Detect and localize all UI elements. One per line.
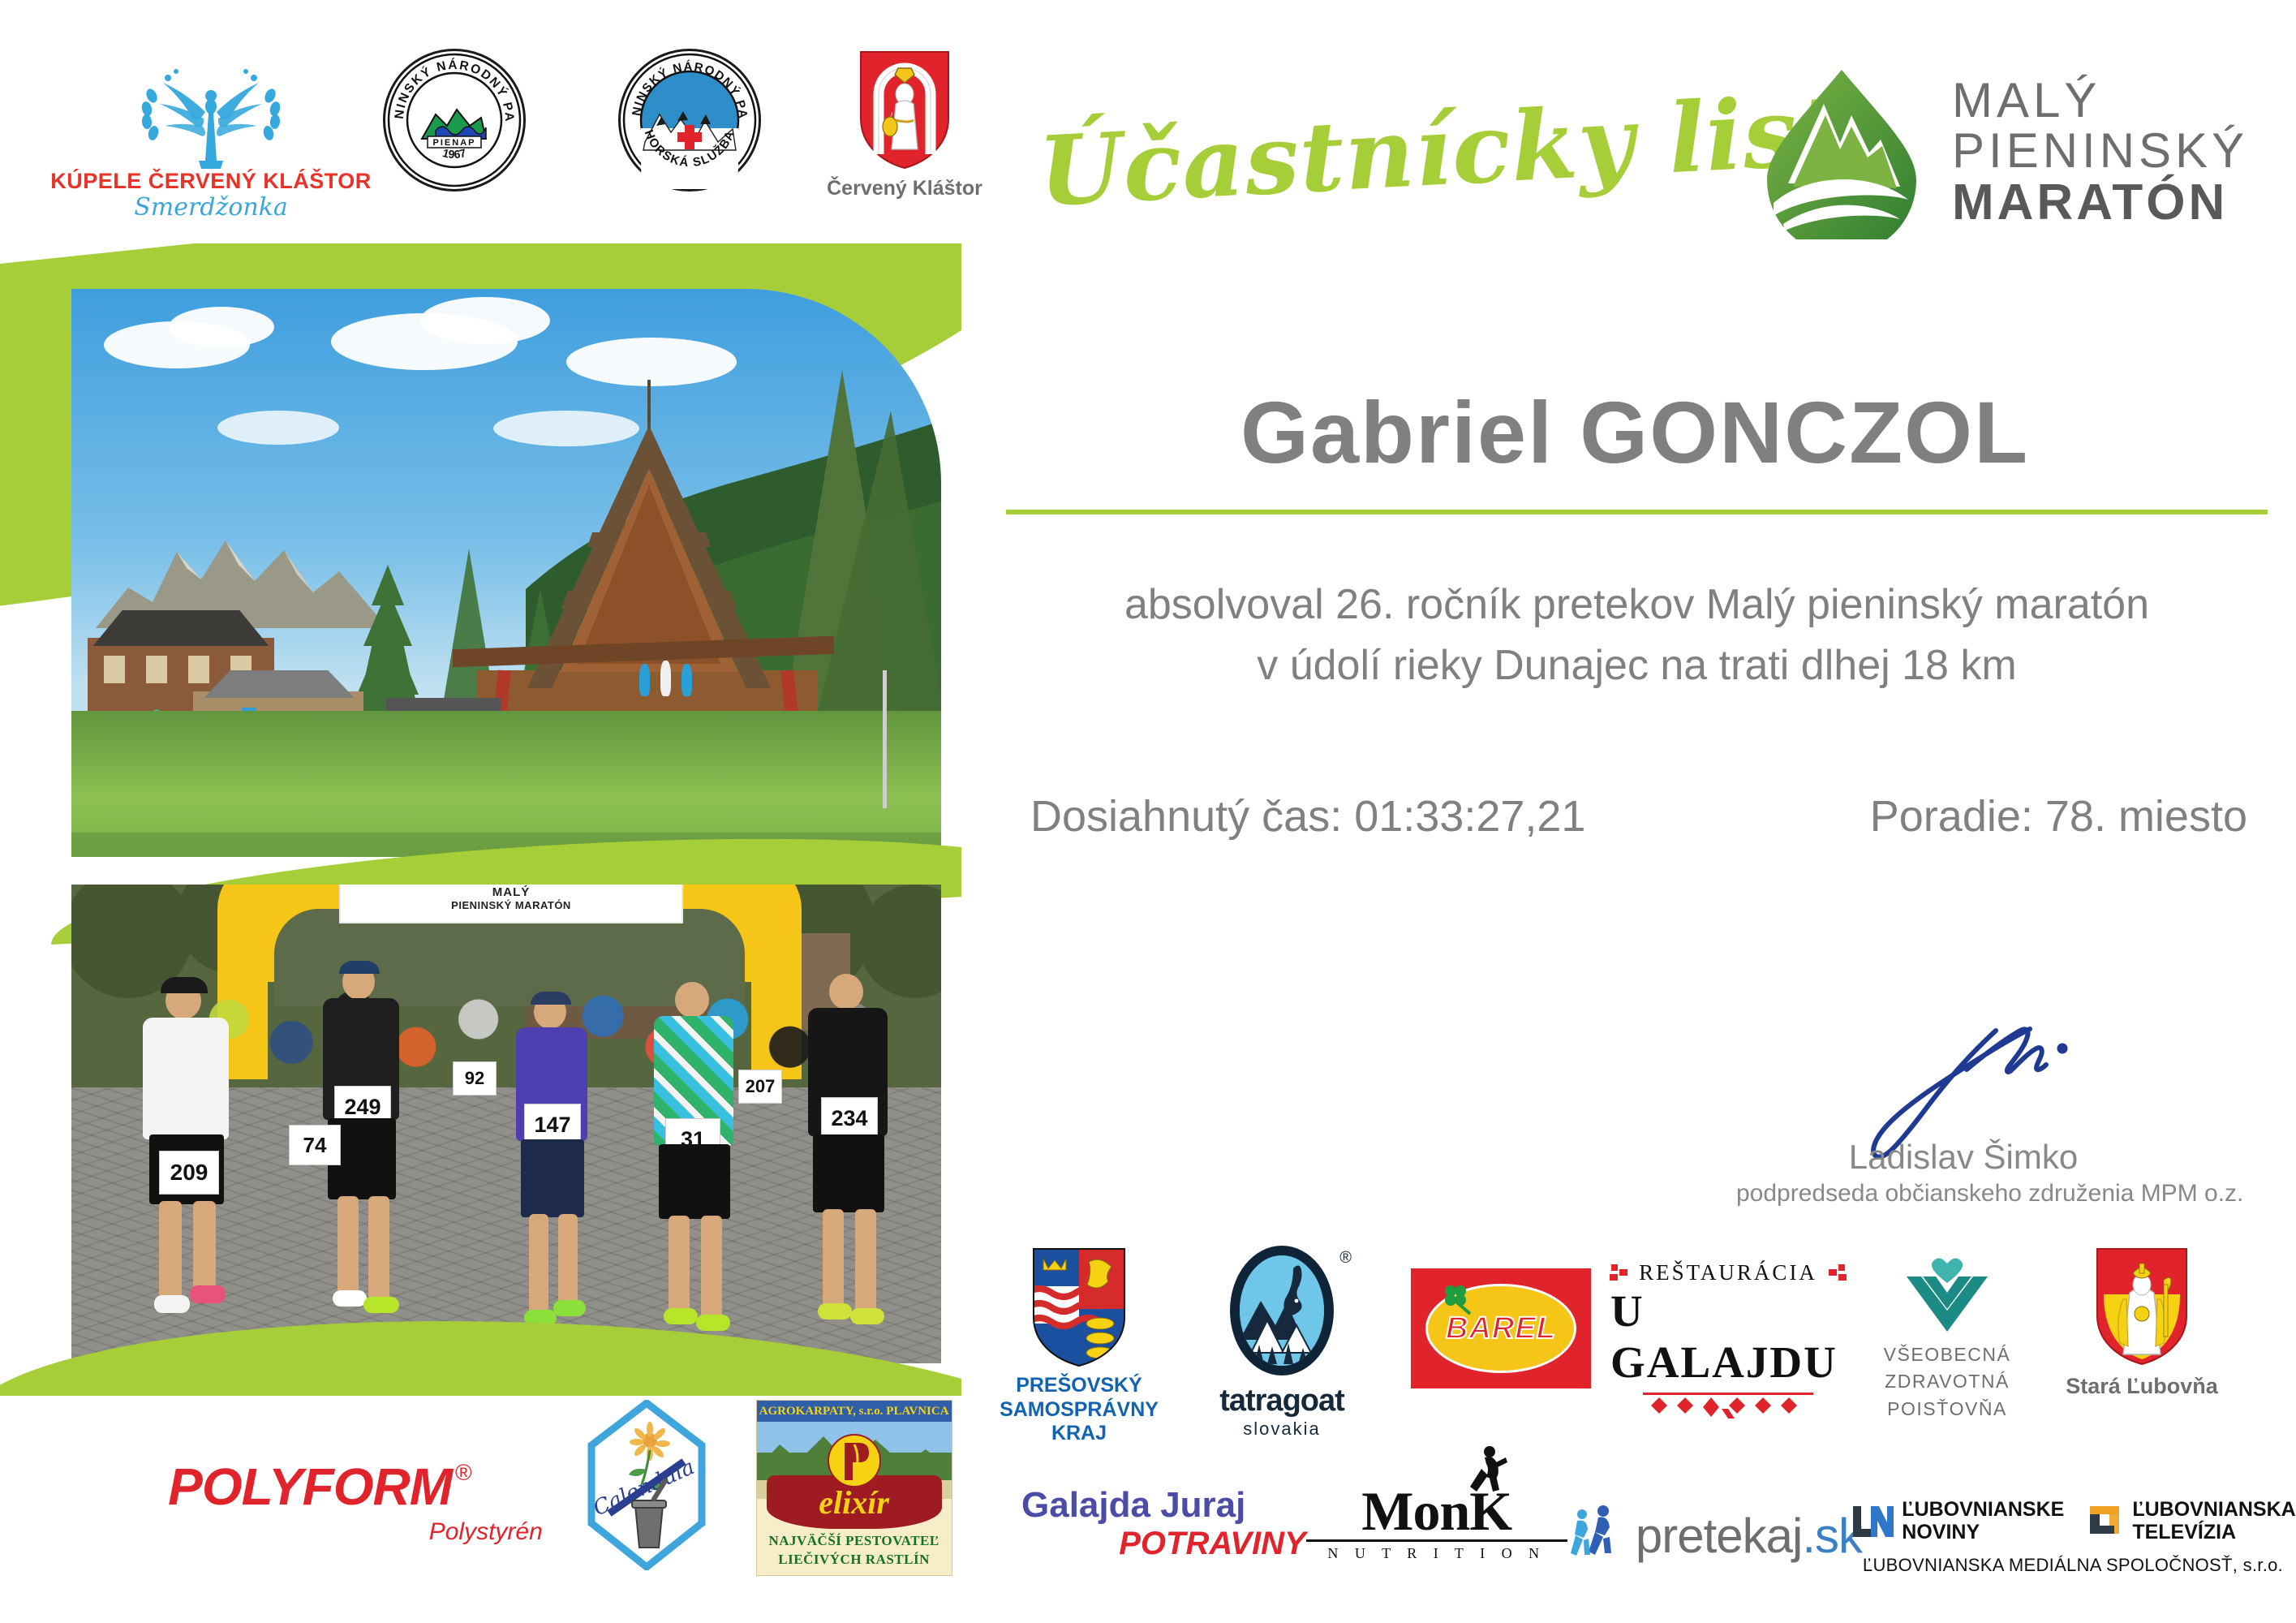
psk-coat-of-arms-icon [1030, 1246, 1128, 1367]
folk-ornament-right-icon [1825, 1261, 1848, 1285]
logo-kupele-cerveny-klastor: KÚPELE ČERVENÝ KLÁŠTOR Smerdžonka [89, 49, 333, 221]
signature-role: podpredseda občianskeho združenia MPM o.… [1736, 1180, 2191, 1208]
sponsor-presovsky-samospravny-kraj: PREŠOVSKÝ SAMOSPRÁVNY KRAJ [986, 1246, 1172, 1446]
pretekaj-wordmark: pretekaj.sk [1636, 1508, 1862, 1564]
runner-234: 234 [793, 974, 907, 1323]
sponsor-monk-nutrition: MonK N U T R I T I O N [1306, 1485, 1567, 1562]
photo-runners-start: MALÝ PIENINSKÝ MARATÓN 209 [71, 885, 941, 1363]
folk-ornament-left-icon [1608, 1261, 1631, 1285]
lt-mark-icon [2087, 1503, 2126, 1539]
finish-time: Dosiahnutý čas: 01:33:27,21 [1030, 791, 1585, 842]
event-logo-wordmark: MALÝ PIENINSKÝ MARATÓN [1952, 75, 2248, 229]
photo-amphitheatre [71, 289, 941, 857]
stara-lubovna-coat-of-arms-icon [2094, 1246, 2190, 1367]
tatragoat-wordmark: tatragoat [1219, 1384, 1344, 1419]
ln-mark-icon [1850, 1503, 1895, 1539]
sponsor-tatragoat: ® tatragoat slovakia [1172, 1246, 1391, 1440]
certificate-page: KÚPELE ČERVENÝ KLÁŠTOR Smerdžonka PIENIN… [0, 0, 2296, 1623]
vzp-label: VŠEOBECNÁ ZDRAVOTNÁ POISŤOVŇA [1884, 1341, 2011, 1423]
lubovnianska-televizia: ĽUBOVNIANSKA TELEVÍZIA [2087, 1498, 2295, 1543]
u-galajdu-line1: REŠTAURÁCIA [1639, 1260, 1817, 1285]
spa-logo-subtitle: Smerdžonka [134, 194, 288, 221]
sponsor-pretekaj-sk: pretekaj.sk [1567, 1485, 1862, 1568]
event-logo-line2: PIENINSKÝ [1952, 126, 2248, 176]
polyform-registered-mark: ® [455, 1460, 472, 1486]
svg-text:PIENAP: PIENAP [433, 138, 476, 148]
elixir-emblem-icon [827, 1430, 882, 1492]
sponsor-barel: BAREL [1391, 1246, 1610, 1388]
sponsor-polyform: POLYFORM ® Polystyrén [97, 1400, 543, 1546]
result-row: Dosiahnutý čas: 01:33:27,21 Poradie: 78.… [1006, 791, 2272, 842]
vzp-chevron-icon [1898, 1254, 1996, 1335]
polyform-wordmark: POLYFORM [168, 1457, 452, 1517]
barel-wordmark: BAREL [1446, 1311, 1556, 1346]
sponsor-agrokarpaty-elixir: AGROKARPATY, s.r.o. PLAVNICA elixír NAJV… [750, 1400, 957, 1576]
elixir-bottom-line2: LIEČIVÝCH RASTLÍN [757, 1552, 952, 1568]
sponsor-row-1: PREŠOVSKÝ SAMOSPRÁVNY KRAJ [986, 1246, 2284, 1449]
u-galajdu-line2: U GALAJDU [1610, 1285, 1846, 1388]
sponsor-vzp: VŠEOBECNÁ ZDRAVOTNÁ POISŤOVŇA [1846, 1246, 2049, 1423]
arch-banner-line1: MALÝ [492, 885, 531, 899]
galajda-line1: Galajda Juraj [1021, 1485, 1245, 1526]
calendula-logo-icon: Calendula [587, 1400, 707, 1570]
monk-divider [1306, 1539, 1567, 1542]
cerveny-klastor-caption: Červený Kláštor [827, 177, 982, 200]
lt-label: ĽUBOVNIANSKA TELEVÍZIA [2132, 1498, 2295, 1543]
sponsor-calendula: Calendula [575, 1400, 718, 1570]
sponsor-row-2: Galajda Juraj POTRAVINY MonK N U T R I T… [986, 1485, 2284, 1607]
name-underline-rule [1006, 510, 2268, 514]
bib-number: 92 [453, 1061, 497, 1096]
arch-banner-line2: PIENINSKÝ MARATÓN [451, 899, 571, 911]
signature-name: Ladislav Šimko [1736, 1138, 2191, 1177]
bib-number: 234 [821, 1097, 878, 1139]
finish-place: Poradie: 78. miesto [1870, 791, 2247, 842]
logo-cerveny-klastor: Červený Kláštor [819, 49, 990, 200]
pretekaj-runners-icon [1567, 1503, 1624, 1568]
signature-block: Ladislav Šimko podpredseda občianskeho z… [1736, 1006, 2191, 1208]
runner-147: 147 [501, 995, 607, 1336]
event-logo-line1: MALÝ [1952, 75, 2248, 126]
elixir-top-banner: AGROKARPATY, s.r.o. PLAVNICA [757, 1401, 952, 1422]
participant-name: Gabriel GONCZOL [1006, 381, 2264, 483]
photo-collage: MALÝ PIENINSKÝ MARATÓN 209 [0, 243, 961, 1396]
polyform-subtitle: Polystyrén [97, 1518, 543, 1546]
sponsor-stara-lubovna: Stará Ľubovňa [2049, 1246, 2235, 1399]
monk-running-figure-icon [1460, 1444, 1509, 1493]
bib-number: 209 [159, 1151, 219, 1195]
pienap-seal-icon: PIENINSKÝ NÁRODNÝ PARK 1967 PIENAP [383, 49, 526, 192]
lms-footer: ĽUBOVNIANSKA MEDIÁLNA SPOLOČNOSŤ, s.r.o. [1863, 1555, 2283, 1576]
certificate-body-line-1: absolvoval 26. ročník pretekov Malý pien… [1006, 580, 2268, 629]
event-logo: MALÝ PIENINSKÝ MARATÓN [1761, 65, 2248, 239]
runner-209: 209 [128, 982, 250, 1323]
bib-number: 207 [738, 1070, 782, 1104]
logo-horska-sluzba: PIENINSKÝ NÁRODNÝ PARK HORSKÁ SLUŽBA [576, 49, 803, 192]
sponsor-u-galajdu: REŠTAURÁCIA U GALAJDU [1610, 1246, 1846, 1420]
tatragoat-subtitle: slovakia [1243, 1419, 1320, 1440]
horska-sluzba-seal-icon: PIENINSKÝ NÁRODNÝ PARK HORSKÁ SLUŽBA [618, 49, 761, 192]
event-logo-line3: MARATÓN [1952, 177, 2248, 229]
galajda-line2: POTRAVINY [1021, 1526, 1306, 1562]
sponsor-galajda-juraj: Galajda Juraj POTRAVINY [986, 1485, 1306, 1562]
ln-label: ĽUBOVNIANSKE NOVINY [1902, 1498, 2064, 1543]
certificate-body-line-2: v údolí rieky Dunajec na trati dlhej 18 … [1006, 641, 2268, 690]
mpm-leaf-mountain-icon [1761, 65, 1923, 239]
elixir-product-label-icon: AGROKARPATY, s.r.o. PLAVNICA elixír NAJV… [756, 1400, 952, 1576]
certificate-title: Účastnícky list [1036, 80, 1722, 228]
bib-number: 74 [289, 1125, 341, 1165]
partner-logo-strip: KÚPELE ČERVENÝ KLÁŠTOR Smerdžonka PIENIN… [89, 49, 998, 243]
barel-logo-icon: BAREL [1411, 1268, 1591, 1388]
sponsor-row-left: POLYFORM ® Polystyrén [97, 1400, 957, 1603]
logo-pieninsky-narodny-park: PIENINSKÝ NÁRODNÝ PARK 1967 PIENAP [341, 49, 568, 192]
monk-subtitle: N U T R I T I O N [1327, 1545, 1546, 1562]
folk-ornament-bottom-icon [1643, 1393, 1813, 1420]
spa-logo-title: KÚPELE ČERVENÝ KLÁŠTOR [50, 170, 372, 192]
tatragoat-icon [1230, 1246, 1334, 1375]
sponsor-lubovnianska-medialna: ĽUBOVNIANSKE NOVINY ĽUBOVNIANSKA TELEVÍZ… [1862, 1485, 2284, 1576]
spa-angel-icon [118, 49, 304, 170]
runner-31: 31 [639, 982, 753, 1331]
stara-lubovna-label: Stará Ľubovňa [2066, 1374, 2218, 1399]
cerveny-klastor-coat-of-arms-icon [856, 49, 953, 170]
lubovnianske-noviny: ĽUBOVNIANSKE NOVINY [1850, 1498, 2064, 1543]
elixir-bottom-line1: NAJVÄČŠÍ PESTOVATEĽ [757, 1533, 952, 1549]
psk-label: PREŠOVSKÝ SAMOSPRÁVNY KRAJ [1000, 1374, 1159, 1446]
